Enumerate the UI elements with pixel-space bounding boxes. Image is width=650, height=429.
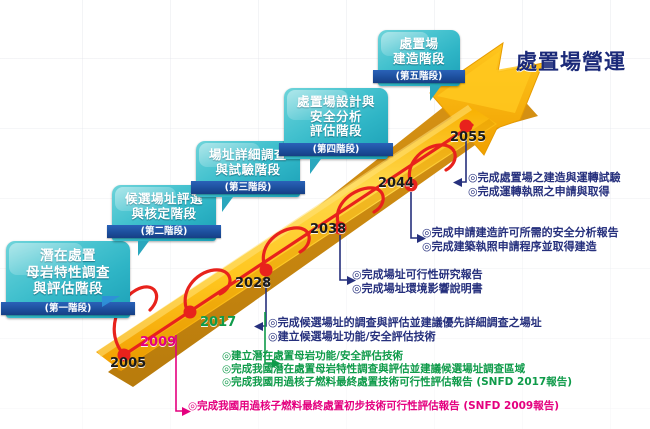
- year-label-2055: 2055: [450, 130, 486, 145]
- stage-box-4-tag: (第四階段): [279, 143, 393, 156]
- stage-box-2-tag: (第二階段): [107, 225, 221, 238]
- annotation-stage5: ◎完成處置場之建造與運轉試驗 ◎完成運轉執照之申請與取得: [468, 171, 621, 198]
- stage-box-4-line-2: 安全分析: [288, 110, 384, 125]
- annotation-stage5-line-2: ◎完成運轉執照之申請與取得: [468, 185, 621, 199]
- annotation-stage3-line-2: ◎完成場址環境影響說明書: [352, 282, 483, 296]
- annotation-stage2-line-2: ◎建立候選場址功能/安全評估技術: [268, 330, 542, 344]
- stage-box-4-pointer: [310, 159, 321, 174]
- stage-box-5-pointer: [430, 86, 441, 101]
- year-label-2038: 2038: [310, 222, 346, 237]
- stage-box-2-line-2: 與核定階段: [116, 207, 212, 222]
- stage-box-3-line-2: 與試驗階段: [200, 163, 296, 178]
- stage-box-4-body: 處置場設計與 安全分析 評估階段 (第四階段): [284, 88, 388, 159]
- annotation-stage4: ◎完成申請建造許可所需的安全分析報告 ◎完成建築執照申請程序並取得建造: [422, 226, 619, 253]
- stage-box-1[interactable]: 潛在處置 母岩特性調查 與評估階段 (第一階段): [6, 241, 130, 318]
- stage-box-5-tag: (第五階段): [373, 70, 465, 83]
- diagram-canvas: 潛在處置 母岩特性調查 與評估階段 (第一階段) 候選場址評選 與核定階段 (第…: [0, 0, 650, 429]
- stage-box-5-body: 處置場 建造階段 (第五階段): [378, 30, 460, 86]
- stage-box-4-line-3: 評估階段: [288, 124, 384, 139]
- annotation-report-2009-line-1: ◎完成我國用過核子燃料最終處置初步技術可行性評估報告 (SNFD 2009報告): [188, 400, 559, 413]
- annotation-stage3: ◎完成場址可行性研究報告 ◎完成場址環境影響說明書: [352, 268, 483, 295]
- stage-box-4[interactable]: 處置場設計與 安全分析 評估階段 (第四階段): [284, 88, 388, 159]
- annotation-report-2009: ◎完成我國用過核子燃料最終處置初步技術可行性評估報告 (SNFD 2009報告): [188, 400, 559, 413]
- stage-box-3-pointer: [222, 197, 233, 212]
- stage-box-1-line-2: 母岩特性調查: [10, 265, 126, 282]
- annotation-stage3-line-1: ◎完成場址可行性研究報告: [352, 268, 483, 282]
- stage-box-4-line-1: 處置場設計與: [288, 95, 384, 110]
- year-label-2009: 2009: [140, 335, 176, 350]
- stage-box-5-line-1: 處置場: [382, 37, 456, 52]
- operation-title: 處置場營運: [516, 46, 626, 76]
- annotation-stage2-line-1: ◎完成候選場址的調查與評估並建議優先詳細調查之場址: [268, 316, 542, 330]
- annotation-stage5-line-1: ◎完成處置場之建造與運轉試驗: [468, 171, 621, 185]
- annotation-report-2017: ◎建立潛在處置母岩功能/安全評估技術 ◎完成我國潛在處置母岩特性調查與評估並建議…: [222, 350, 572, 389]
- annotation-report-2017-line-3: ◎完成我國用過核子燃料最終處置技術可行性評估報告 (SNFD 2017報告): [222, 376, 572, 389]
- stage-box-5-line-2: 建造階段: [382, 52, 456, 67]
- stage-box-3-tag: (第三階段): [191, 181, 305, 194]
- stage-box-1-pointer: [102, 296, 129, 307]
- stage-box-1-line-3: 與評估階段: [10, 281, 126, 298]
- stage-box-1-body: 潛在處置 母岩特性調查 與評估階段 (第一階段): [6, 241, 130, 318]
- annotation-stage2: ◎完成候選場址的調查與評估並建議優先詳細調查之場址 ◎建立候選場址功能/安全評估…: [268, 316, 542, 343]
- annotation-stage4-line-1: ◎完成申請建造許可所需的安全分析報告: [422, 226, 619, 240]
- annotation-report-2017-line-2: ◎完成我國潛在處置母岩特性調查與評估並建議候選場址調查區域: [222, 363, 572, 376]
- year-label-2028: 2028: [235, 276, 271, 291]
- annotation-report-2017-line-1: ◎建立潛在處置母岩功能/安全評估技術: [222, 350, 572, 363]
- year-label-2005: 2005: [110, 356, 146, 371]
- year-label-2017: 2017: [200, 315, 236, 330]
- stage-box-5[interactable]: 處置場 建造階段 (第五階段): [378, 30, 460, 86]
- annotation-stage4-line-2: ◎完成建築執照申請程序並取得建造: [422, 240, 619, 254]
- year-label-2044: 2044: [378, 176, 414, 191]
- stage-box-2-pointer: [138, 241, 149, 256]
- stage-box-1-line-1: 潛在處置: [10, 248, 126, 265]
